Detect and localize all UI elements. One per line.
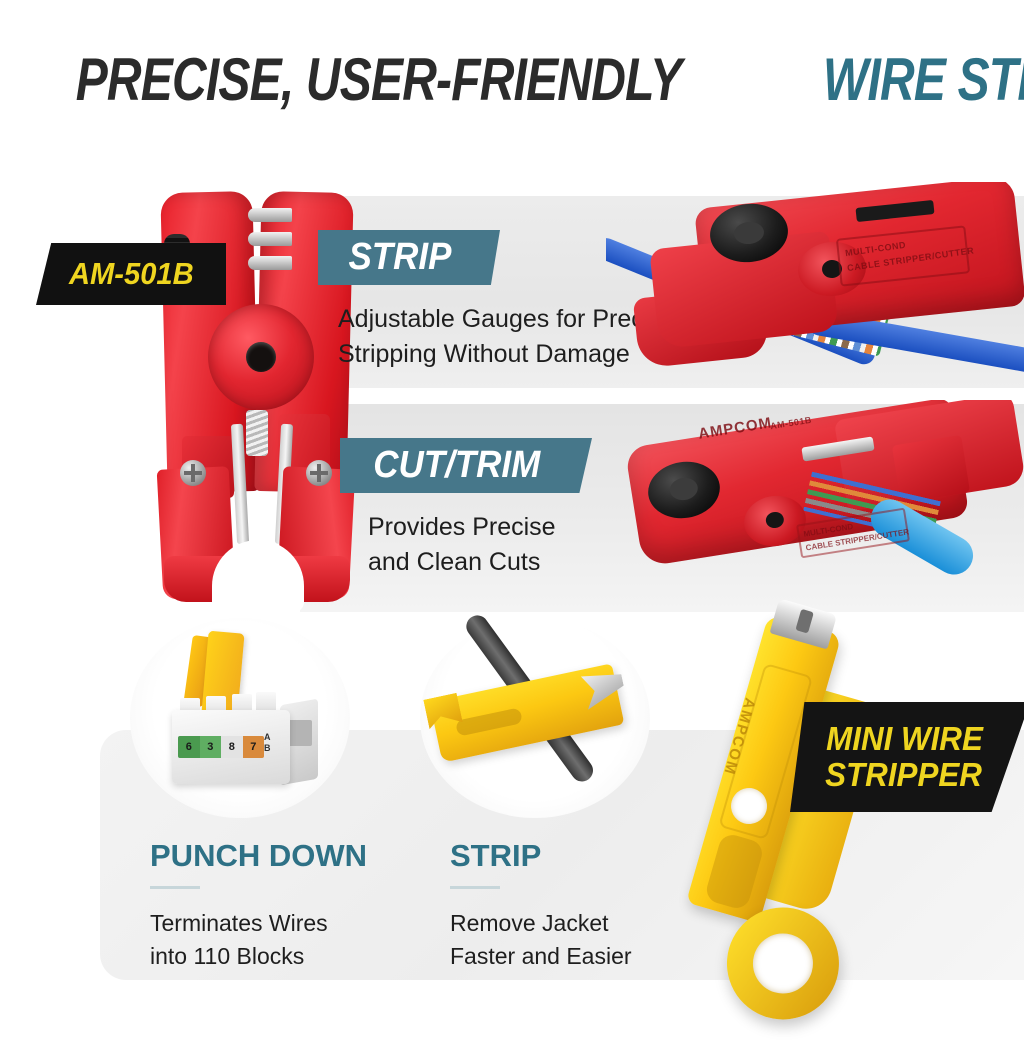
feature-banner-strip-label: STRIP bbox=[348, 236, 451, 279]
jack-label-b: B bbox=[264, 743, 271, 754]
mini-stripper-badge-line-1: MINI WIRE bbox=[826, 721, 983, 757]
caption-strip-title: STRIP bbox=[450, 840, 700, 871]
caption-punch-down-title: PUNCH DOWN bbox=[150, 840, 450, 871]
jack-label: 8 bbox=[221, 736, 243, 758]
poster-canvas: PRECISE, USER-FRIENDLY WIRE STRIPPERS bbox=[0, 0, 1024, 1024]
keystone-jack-port bbox=[288, 720, 312, 746]
headline-part-2: WIRE STRIPPERS bbox=[823, 50, 1024, 110]
headline-part-1: PRECISE, USER-FRIENDLY bbox=[76, 50, 682, 110]
caption-punch-down: PUNCH DOWN Terminates Wires into 110 Blo… bbox=[150, 840, 450, 974]
caption-line-2: into 110 Blocks bbox=[150, 943, 304, 969]
caption-punch-down-text: Terminates Wires into 110 Blocks bbox=[150, 907, 450, 974]
tool-emboss-text: MULTI-COND CABLE STRIPPER/CUTTER bbox=[844, 229, 975, 277]
caption-line-1: Terminates Wires bbox=[150, 910, 328, 936]
tool-spring bbox=[246, 410, 268, 456]
tool-blade bbox=[248, 232, 292, 246]
tool-blade bbox=[248, 208, 292, 222]
product-photo-mini-strip-action bbox=[420, 618, 650, 818]
jack-wiring-labels: 6 3 8 7 bbox=[178, 736, 264, 758]
mini-stripper-badge: MINI WIRE STRIPPER bbox=[790, 702, 1024, 812]
jack-label: 3 bbox=[200, 736, 222, 758]
caption-strip-text: Remove Jacket Faster and Easier bbox=[450, 907, 700, 974]
product-photo-cut-action: AMPCOM AM-501B MULTI-COND CABLE STRIPPER… bbox=[620, 400, 1024, 616]
tool-pivot-wheel bbox=[208, 304, 314, 410]
product-photo-strip-action: MULTI-COND CABLE STRIPPER/CUTTER bbox=[606, 182, 1024, 394]
jack-label: 6 bbox=[178, 736, 200, 758]
caption-divider bbox=[150, 886, 200, 889]
tool-screw bbox=[180, 460, 206, 486]
tool-blade bbox=[248, 256, 292, 270]
model-badge-label: AM-501B bbox=[69, 256, 194, 292]
caption-divider bbox=[450, 886, 500, 889]
model-badge: AM-501B bbox=[36, 243, 226, 305]
feature-banner-cut-label: CUT/TRIM bbox=[373, 444, 540, 487]
caption-line-2: Faster and Easier bbox=[450, 943, 632, 969]
feature-banner-cut: CUT/TRIM bbox=[340, 438, 592, 493]
mini-stripper-badge-line-2: STRIPPER bbox=[826, 757, 983, 793]
jack-ab-label: A B bbox=[264, 732, 271, 754]
jack-label: 7 bbox=[243, 736, 265, 758]
product-photo-punch-down: 6 3 8 7 A B bbox=[130, 618, 350, 818]
feature-banner-strip: STRIP bbox=[318, 230, 500, 285]
caption-line-1: Remove Jacket bbox=[450, 910, 609, 936]
jack-label-a: A bbox=[264, 732, 271, 743]
caption-strip: STRIP Remove Jacket Faster and Easier bbox=[450, 840, 700, 974]
tool-screw bbox=[306, 460, 332, 486]
page-title: PRECISE, USER-FRIENDLY WIRE STRIPPERS bbox=[0, 50, 1024, 110]
tool-blade-group bbox=[248, 206, 292, 292]
